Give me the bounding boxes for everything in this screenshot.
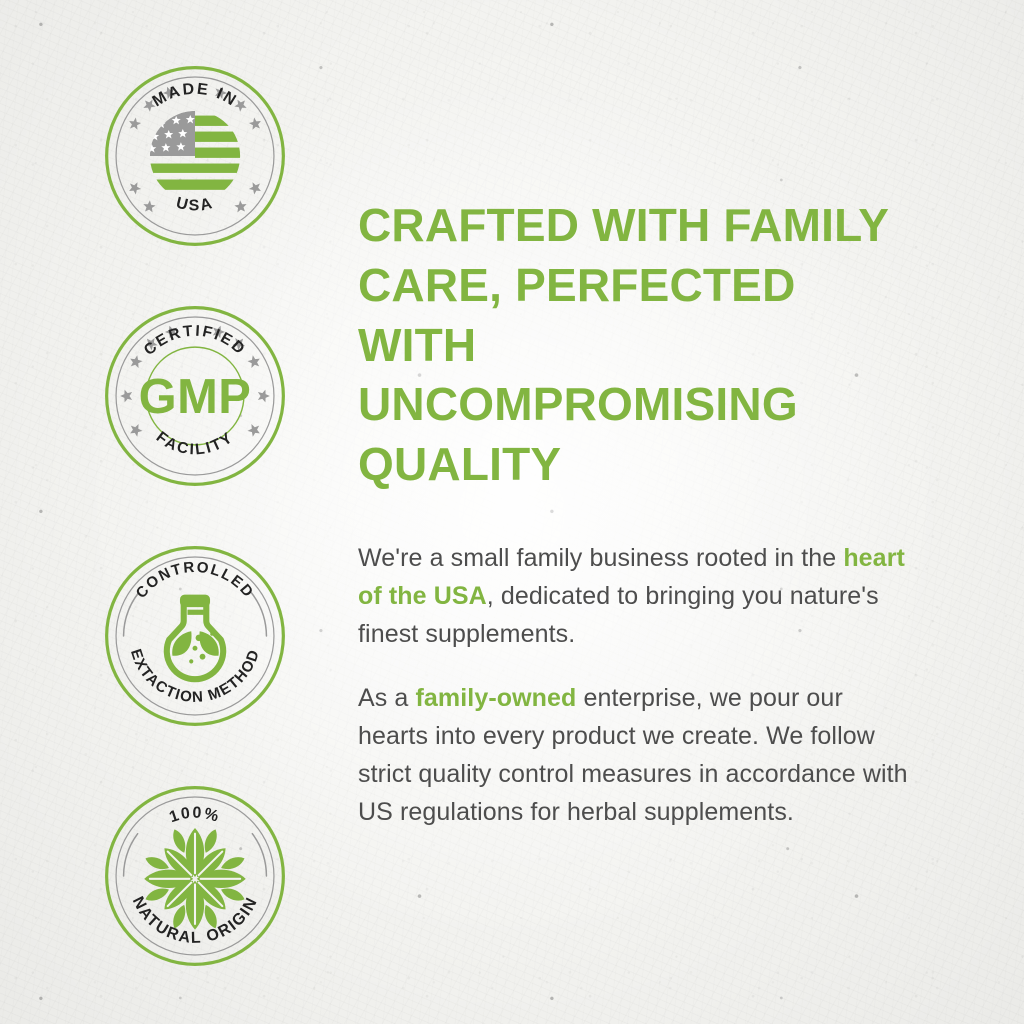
badge-natural-origin: 100% NATURAL ORIGIN: [101, 782, 289, 970]
infographic-canvas: MADE IN USA: [0, 0, 1024, 1024]
flask-leaf-icon: CONTROLLED EXTACTION METHOD: [101, 542, 289, 730]
usa-flag-circle-icon: MADE IN USA: [101, 62, 289, 250]
body-paragraph: We're a small family business rooted in …: [358, 539, 914, 653]
badge-made-in-usa: MADE IN USA: [101, 62, 289, 250]
highlighted-phrase: family-owned: [415, 684, 576, 712]
badge-bottom-label: FACILITY: [153, 429, 237, 459]
svg-text:FACILITY: FACILITY: [153, 429, 237, 459]
badge-top-label: CERTIFIED: [141, 323, 249, 359]
svg-text:USA: USA: [174, 195, 215, 215]
leaf-mandala-icon: 100% NATURAL ORIGIN: [101, 782, 289, 970]
badge-controlled-extraction-method: CONTROLLED EXTACTION METHOD: [101, 542, 289, 730]
gmp-seal-icon: GMP CERTIFIED FACILITY: [101, 302, 289, 490]
body-copy: We're a small family business rooted in …: [358, 539, 914, 831]
content-column: CRAFTED WITH FAMILY CARE, PERFECTED WITH…: [358, 196, 914, 831]
svg-text:MADE IN: MADE IN: [150, 81, 241, 111]
badge-top-label: 100%: [167, 805, 222, 827]
paragraph-text: As a: [358, 684, 415, 712]
badge-top-label: MADE IN: [150, 81, 241, 111]
svg-text:100%: 100%: [167, 805, 222, 827]
flask-graphic: [167, 595, 223, 680]
badge-center-label: GMP: [139, 370, 252, 424]
paragraph-text: We're a small family business rooted in …: [358, 544, 843, 572]
body-paragraph: As a family-owned enterprise, we pour ou…: [358, 679, 914, 831]
badge-gmp-certified-facility: GMP CERTIFIED FACILITY: [101, 302, 289, 490]
svg-text:CERTIFIED: CERTIFIED: [141, 323, 249, 359]
certification-badge-column: MADE IN USA: [96, 62, 294, 970]
page-title: CRAFTED WITH FAMILY CARE, PERFECTED WITH…: [358, 196, 914, 495]
flag-graphic: [146, 111, 244, 190]
badge-bottom-label: USA: [174, 195, 215, 215]
mandala-graphic: [144, 827, 247, 930]
